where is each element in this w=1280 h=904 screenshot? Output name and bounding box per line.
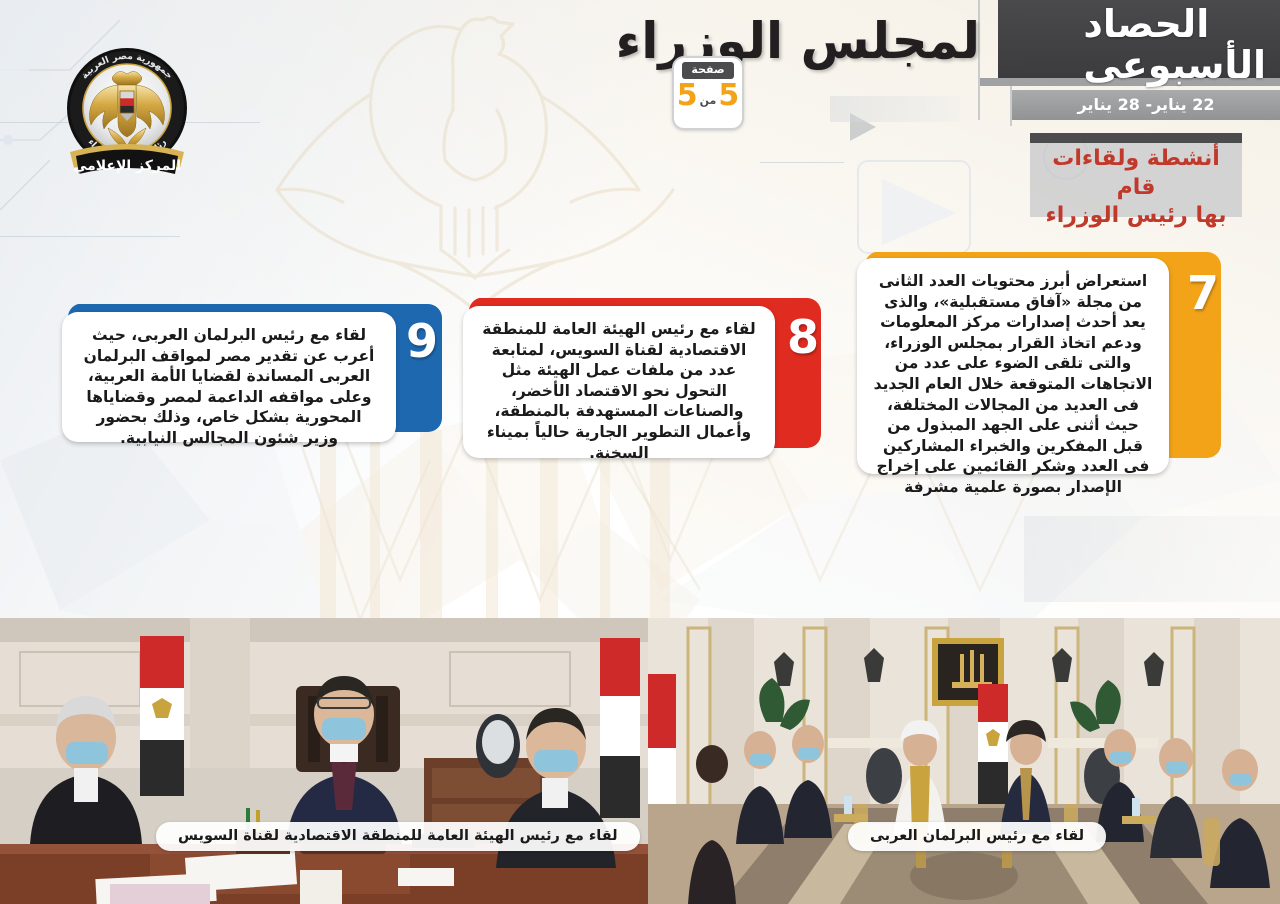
decor-line-2: [0, 236, 180, 237]
card-9-text: لقاء مع رئيس البرلمان العربى، حيث أعرب ع…: [78, 325, 380, 449]
page-number-badge: صفحة 5 من 5: [672, 56, 744, 130]
photo-2-caption: لقاء مع رئيس البرلمان العربى: [848, 822, 1106, 851]
header-title-line2: الأسبوعى: [1083, 45, 1266, 86]
card-7-body: استعراض أبرز محتويات العدد الثانى من مجل…: [857, 258, 1169, 474]
section-heading: أنشطة ولقاءات قام بها رئيس الوزراء: [1036, 145, 1236, 231]
photo-1-caption: لقاء مع رئيس الهيئة العامة للمنطقة الاقت…: [156, 822, 640, 851]
section-heading-plate-top: [1030, 133, 1242, 143]
card-8-body: لقاء مع رئيس الهيئة العامة للمنطقة الاقت…: [463, 306, 775, 458]
page-badge-label: صفحة: [682, 62, 733, 79]
page-badge-of: من: [699, 94, 718, 107]
info-card-7: استعراض أبرز محتويات العدد الثانى من مجل…: [857, 248, 1225, 480]
photo-suez-meeting-image: [0, 618, 648, 904]
photo-suez-meeting: لقاء مع رئيس الهيئة العامة للمنطقة الاقت…: [0, 618, 648, 904]
photo-arab-parliament-meeting: لقاء مع رئيس البرلمان العربى: [648, 618, 1280, 904]
section-heading-line1: أنشطة ولقاءات قام: [1036, 145, 1236, 202]
section-heading-line2: بها رئيس الوزراء: [1036, 202, 1236, 231]
infographic-page: الحصاد الأسبوعى 22 يناير- 28 يناير لمجلس…: [0, 0, 1280, 904]
card-7-number: 7: [1187, 270, 1219, 316]
card-9-body: لقاء مع رئيس البرلمان العربى، حيث أعرب ع…: [62, 312, 396, 442]
page-badge-numbers: 5 من 5: [677, 81, 739, 111]
logo-banner-text: المركز الإعلامي: [73, 158, 181, 174]
decor-band-1: [830, 96, 960, 122]
page-badge-total: 5: [677, 81, 698, 111]
header-title-block: الحصاد الأسبوعى: [1083, 4, 1266, 86]
decor-line-3: [760, 162, 844, 163]
decor-band-2: [1024, 516, 1280, 602]
card-8-number: 8: [787, 314, 819, 360]
header-date-range: 22 يناير- 28 يناير: [1012, 90, 1280, 120]
photo-arab-parliament-image: [648, 618, 1280, 904]
info-card-8: لقاء مع رئيس الهيئة العامة للمنطقة الاقت…: [463, 296, 825, 466]
card-8-text: لقاء مع رئيس الهيئة العامة للمنطقة الاقت…: [479, 319, 759, 463]
cabinet-media-center-logo: جمهورية مصر العربية رئاسة مجلس الوزراء ا…: [52, 36, 202, 186]
info-card-9: لقاء مع رئيس البرلمان العربى، حيث أعرب ع…: [62, 302, 446, 450]
page-title: لمجلس الوزراء: [616, 12, 980, 70]
header-title-line1: الحصاد: [1083, 4, 1266, 45]
page-badge-current: 5: [718, 81, 739, 111]
card-7-text: استعراض أبرز محتويات العدد الثانى من مجل…: [873, 271, 1153, 498]
card-9-number: 9: [406, 318, 438, 364]
